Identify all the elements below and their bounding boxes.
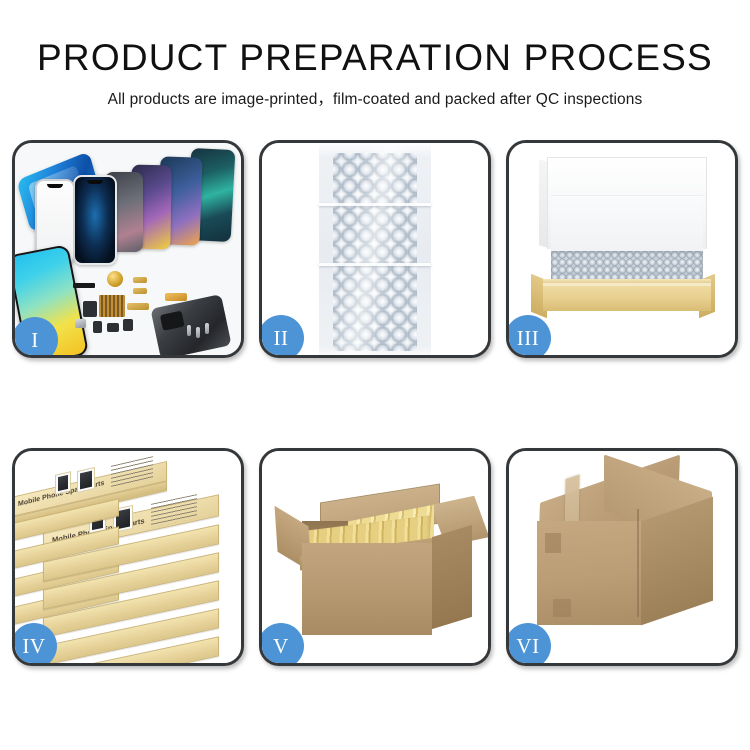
screw-icon [187,325,191,336]
flex-cable-icon [165,293,187,301]
vibration-motor-icon [107,271,123,287]
carton-side-panel [432,525,472,629]
screw-icon [196,327,200,338]
step-badge-6: VI [506,623,551,666]
flex-cable-icon [133,288,147,294]
carton-flap-tab [545,533,561,553]
speaker-part-icon [73,283,95,288]
sim-tray-icon [75,319,86,328]
step-panel-6: VI [506,448,738,666]
step-panel-5: V [259,448,491,666]
box-artwork-thumbnail [55,471,71,495]
wrap-seam [319,263,431,266]
plastic-sheen [319,145,431,355]
camera-module-icon [83,301,97,317]
connector-chip-icon [99,295,125,317]
flex-cable-icon [127,303,149,310]
step-panel-2: II [259,140,491,358]
small-part-icon [107,323,119,332]
small-part-icon [123,319,133,331]
foam-sheet-icon [551,195,703,253]
carton-edge [637,509,639,618]
process-steps-grid: I II [12,140,740,666]
carton-flap-tab [553,599,571,617]
box-artwork-thumbnail [77,467,95,493]
step-badge-1: I [12,317,58,358]
screw-icon [205,323,209,334]
wrap-seam [319,203,431,206]
step-panel-1: I [12,140,244,358]
step-panel-4: Mobile Phone Spare Parts Mobile Phone Sp… [12,448,244,666]
phone-notch-icon [87,180,103,184]
header: PRODUCT PREPARATION PROCESS All products… [0,36,750,109]
step-badge-4: IV [12,623,57,666]
phone-internals-icon [150,294,231,355]
phone-notch-icon [47,184,63,188]
page-title: PRODUCT PREPARATION PROCESS [0,36,750,80]
product-preparation-infographic: PRODUCT PREPARATION PROCESS All products… [0,0,750,750]
flex-cable-icon [133,277,147,283]
small-part-icon [93,321,102,333]
step-panel-3: III [506,140,738,358]
step-badge-5: V [259,623,304,666]
step-badge-3: III [506,315,551,358]
box-front-panel [543,283,711,311]
step-badge-2: II [259,315,304,358]
phone-screen-icon [73,175,117,265]
box-spec-lines [151,494,197,528]
carton-front-panel [302,543,432,635]
page-subtitle: All products are image-printed，film-coat… [0,87,750,109]
bubble-wrap-icon [319,145,431,355]
